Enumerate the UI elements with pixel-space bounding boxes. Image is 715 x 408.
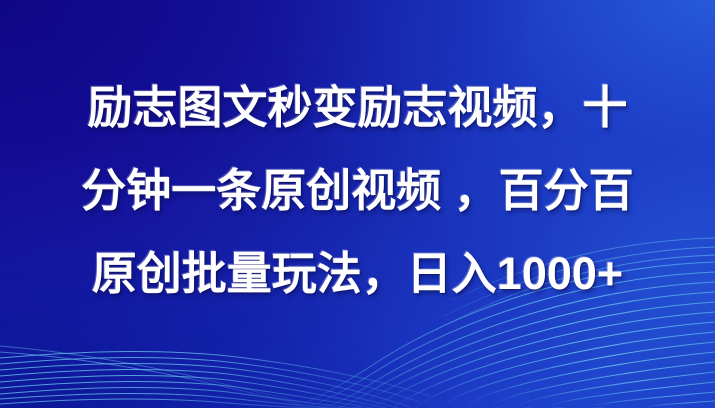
headline-line-2: 分钟一条原创视频 ，百分百: [14, 149, 701, 232]
promo-banner: 励志图文秒变励志视频，十 分钟一条原创视频 ，百分百 原创批量玩法，日入1000…: [0, 0, 715, 408]
headline-block: 励志图文秒变励志视频，十 分钟一条原创视频 ，百分百 原创批量玩法，日入1000…: [0, 66, 715, 315]
headline-line-1: 励志图文秒变励志视频，十: [14, 66, 701, 149]
headline-line-3: 原创批量玩法，日入1000+: [14, 232, 701, 315]
